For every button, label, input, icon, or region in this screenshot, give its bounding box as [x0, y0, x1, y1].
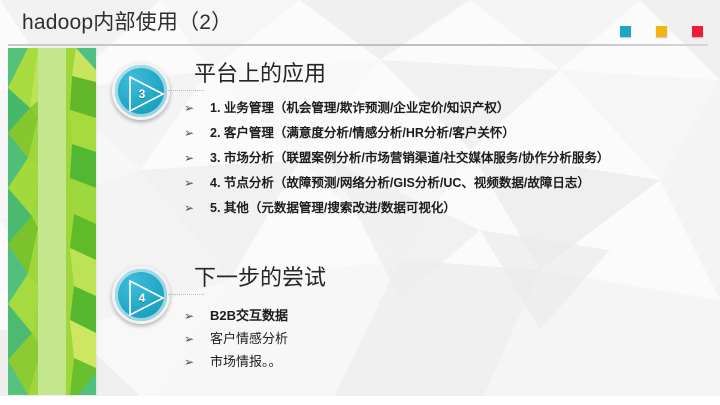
- chip-red: [692, 26, 703, 37]
- list-item-label: 市场情报。。: [210, 350, 282, 373]
- list-item: ➢ 1. 业务管理（机会管理/欺诈预测/企业定价/知识产权）: [184, 96, 609, 121]
- list-item-label: 2. 客户管理（满意度分析/情感分析/HR分析/客户关怀）: [210, 121, 515, 146]
- section-badge-4: 4: [112, 266, 170, 324]
- section-badge-number-3: 3: [115, 65, 173, 123]
- list-item-label: 3. 市场分析（联盟案例分析/市场营销渠道/社交媒体服务/协作分析服务）: [210, 146, 609, 171]
- list-item: ➢ 市场情报。。: [184, 350, 288, 373]
- arrow-bullet-icon: ➢: [184, 305, 210, 328]
- list-item-label: B2B交互数据: [210, 304, 288, 327]
- list-item-label: 4. 节点分析（故障预测/网络分析/GIS分析/UC、视频数据/故障日志）: [210, 171, 590, 196]
- list-item: ➢ 2. 客户管理（满意度分析/情感分析/HR分析/客户关怀）: [184, 121, 609, 146]
- bullet-list-4: ➢ B2B交互数据 ➢ 客户情感分析 ➢ 市场情报。。: [184, 304, 288, 373]
- section-heading-3: 平台上的应用: [194, 58, 326, 90]
- list-item-label: 5. 其他（元数据管理/搜索改进/数据可视化）: [210, 196, 456, 221]
- list-item-label: 客户情感分析: [210, 327, 288, 350]
- list-item: ➢ 5. 其他（元数据管理/搜索改进/数据可视化）: [184, 196, 609, 221]
- chip-teal: [620, 26, 631, 37]
- page-title: hadoop内部使用（2）: [22, 8, 232, 38]
- green-accent-bar: [8, 48, 96, 395]
- section-badge-3: 3: [112, 62, 170, 120]
- arrow-bullet-icon: ➢: [184, 96, 210, 121]
- list-item: ➢ 4. 节点分析（故障预测/网络分析/GIS分析/UC、视频数据/故障日志）: [184, 171, 609, 196]
- section-heading-4: 下一步的尝试: [194, 262, 326, 294]
- arrow-bullet-icon: ➢: [184, 121, 210, 146]
- arrow-bullet-icon: ➢: [184, 171, 210, 196]
- list-item: ➢ B2B交互数据: [184, 304, 288, 327]
- arrow-bullet-icon: ➢: [184, 196, 210, 221]
- bottom-white-band: [0, 396, 720, 405]
- header-color-chips: [620, 26, 703, 37]
- badge-connector-line: [168, 90, 204, 92]
- bullet-list-3: ➢ 1. 业务管理（机会管理/欺诈预测/企业定价/知识产权） ➢ 2. 客户管理…: [184, 96, 609, 221]
- badge-connector-line: [168, 294, 204, 296]
- section-badge-number-4: 4: [115, 269, 173, 327]
- list-item-label: 1. 业务管理（机会管理/欺诈预测/企业定价/知识产权）: [210, 96, 509, 121]
- list-item: ➢ 3. 市场分析（联盟案例分析/市场营销渠道/社交媒体服务/协作分析服务）: [184, 146, 609, 171]
- arrow-bullet-icon: ➢: [184, 328, 210, 351]
- chip-yellow: [656, 26, 667, 37]
- slide-canvas: hadoop内部使用（2）: [0, 0, 720, 405]
- arrow-bullet-icon: ➢: [184, 146, 210, 171]
- title-divider: [8, 44, 708, 46]
- arrow-bullet-icon: ➢: [184, 351, 210, 374]
- list-item: ➢ 客户情感分析: [184, 327, 288, 350]
